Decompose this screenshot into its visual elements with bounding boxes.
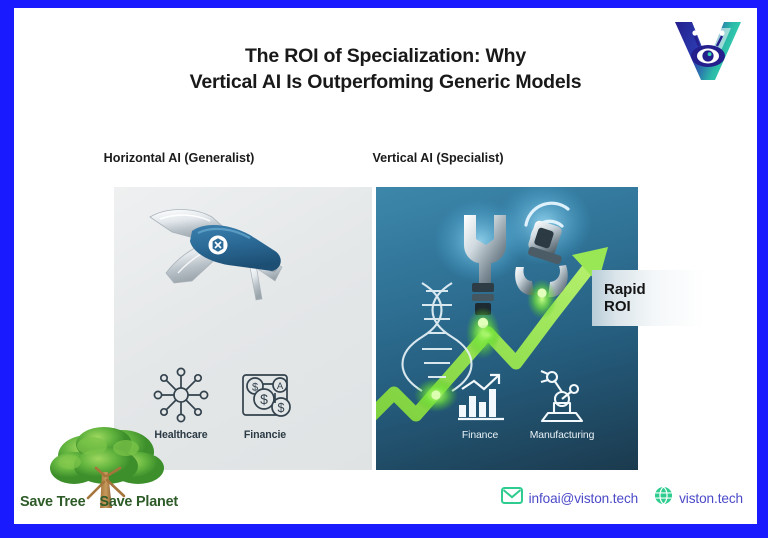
envelope-icon [501, 487, 523, 509]
finance-bar-chart-icon [434, 369, 526, 429]
right-item-label: Finance [434, 430, 526, 441]
swiss-army-knife-icon [132, 195, 342, 345]
manufacturing-robot-arm-icon [516, 369, 608, 429]
globe-icon [654, 486, 673, 510]
left-item-financie: $ A $ $ Financie [222, 363, 308, 441]
website-text: viston.tech [679, 491, 743, 506]
title-line-2: Vertical AI Is Outperfoming Generic Mode… [14, 70, 757, 96]
svg-text:$: $ [260, 391, 268, 407]
right-item-label: Manufacturing [516, 430, 608, 441]
save-planet-text: Save Planet [99, 494, 178, 510]
save-tree-caption: Save TreeSave Planet [20, 494, 226, 510]
left-item-label: Financie [222, 429, 308, 441]
right-item-manufacturing: Manufacturing [516, 369, 608, 441]
svg-text:A: A [277, 381, 284, 392]
contact-website[interactable]: viston.tech [654, 486, 743, 510]
rapid-roi-callout: Rapid ROI [592, 270, 704, 326]
right-item-finance: Finance [434, 369, 526, 441]
outer-blue-frame: The ROI of Specialization: Why Vertical … [0, 0, 768, 538]
save-tree-badge: Save TreeSave Planet [20, 426, 226, 524]
title-line-1: The ROI of Specialization: Why [14, 44, 757, 70]
page-title: The ROI of Specialization: Why Vertical … [14, 44, 757, 96]
svg-text:$: $ [278, 401, 285, 415]
callout-line-2: ROI [604, 298, 704, 315]
slide-canvas: The ROI of Specialization: Why Vertical … [14, 8, 757, 524]
column-heading-horizontal: Horizontal AI (Generalist) [57, 151, 301, 165]
column-heading-vertical: Vertical AI (Specialist) [316, 151, 560, 165]
healthcare-network-icon [138, 363, 224, 427]
callout-line-1: Rapid [604, 281, 704, 298]
footer-contact: infoai@viston.tech viston.tech [501, 486, 743, 510]
email-text: infoai@viston.tech [529, 491, 638, 506]
panel-vertical-ai: Finance [376, 187, 638, 470]
contact-email[interactable]: infoai@viston.tech [501, 487, 638, 509]
save-tree-text: Save Tree [20, 494, 85, 510]
finance-money-icon: $ A $ $ [222, 363, 308, 427]
